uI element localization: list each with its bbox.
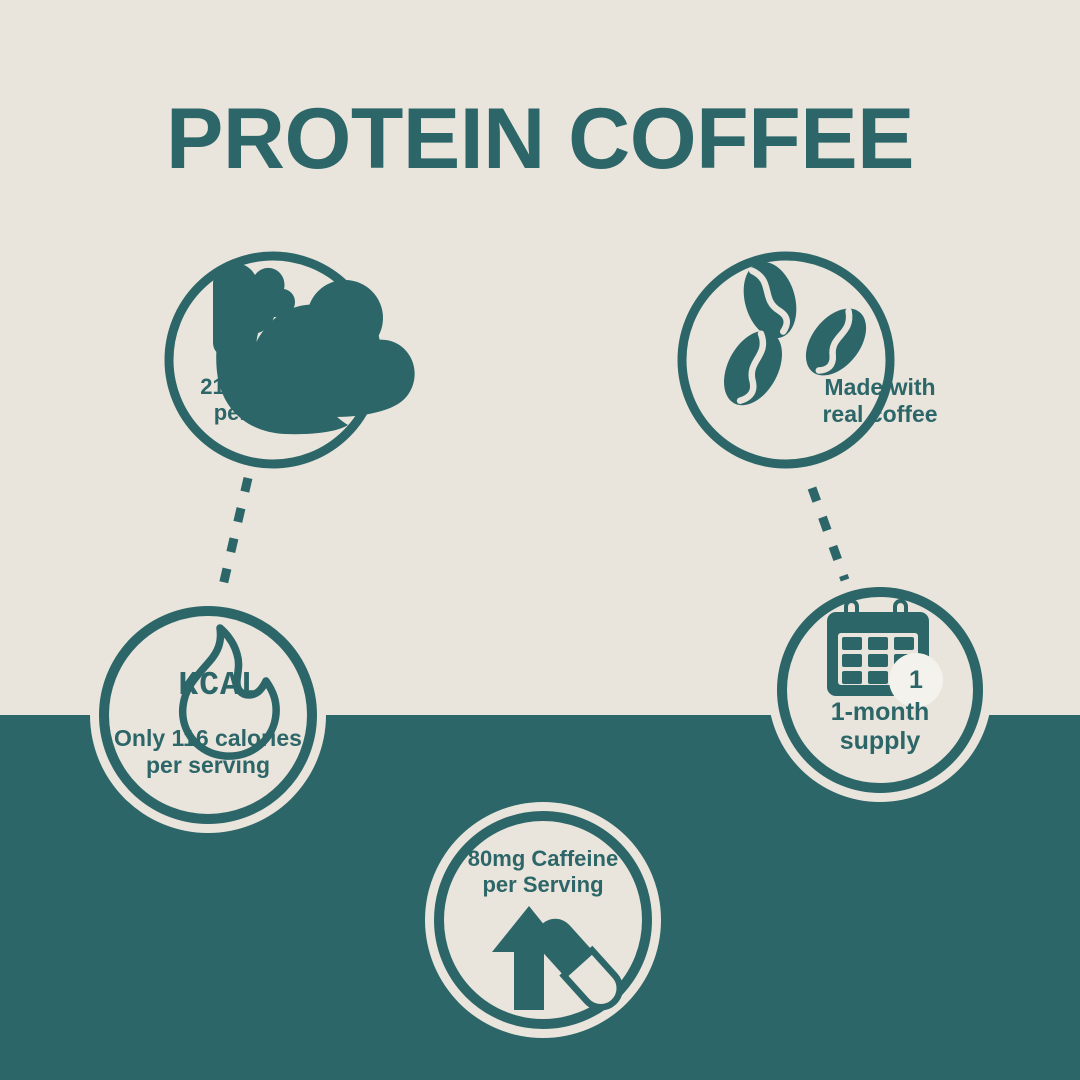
- badge-coffee[interactable]: [682, 256, 890, 464]
- coffee-badge-label: Made with real coffee: [760, 374, 1000, 427]
- calories-badge-label: Only 116 calories per serving: [88, 725, 328, 778]
- infographic-canvas: KCAL: [0, 0, 1080, 1080]
- connector-coffee-to-month-supply: [812, 488, 845, 580]
- month-supply-badge-label: 1-month supply: [760, 698, 1000, 756]
- day-badge-number: 1: [893, 657, 939, 703]
- calories-badge-ring: [104, 611, 312, 819]
- caffeine-badge-label: 80mg Caffeine per Serving: [423, 846, 663, 897]
- kcal-icon-text: KCAL: [178, 667, 261, 704]
- connector-protein-to-calories: [222, 478, 248, 590]
- page-title: PROTEIN COFFEE: [0, 96, 1080, 182]
- badge-calories[interactable]: KCAL: [104, 611, 312, 819]
- badge-protein[interactable]: [169, 256, 415, 464]
- arrow-up-pill-icon: [492, 906, 628, 1015]
- protein-badge-label: 21g of protein per serving: [153, 374, 393, 425]
- badge-month-supply[interactable]: [782, 592, 978, 788]
